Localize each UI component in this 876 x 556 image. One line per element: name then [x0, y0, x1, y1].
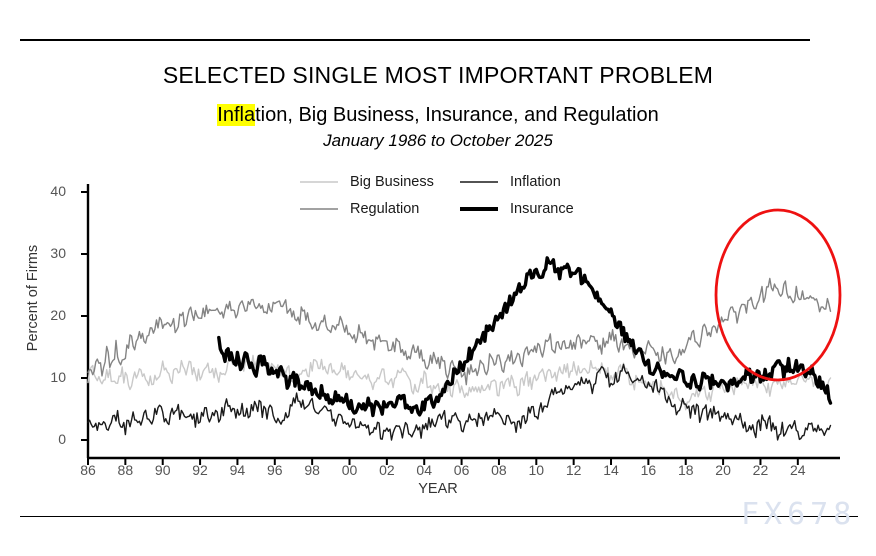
- chart-page: SELECTED SINGLE MOST IMPORTANT PROBLEM I…: [0, 0, 876, 556]
- red-ellipse-highlight: [716, 210, 840, 380]
- series-line-insurance: [219, 258, 831, 416]
- plot-canvas: [0, 0, 876, 556]
- watermark-fx678: FX678: [741, 497, 856, 532]
